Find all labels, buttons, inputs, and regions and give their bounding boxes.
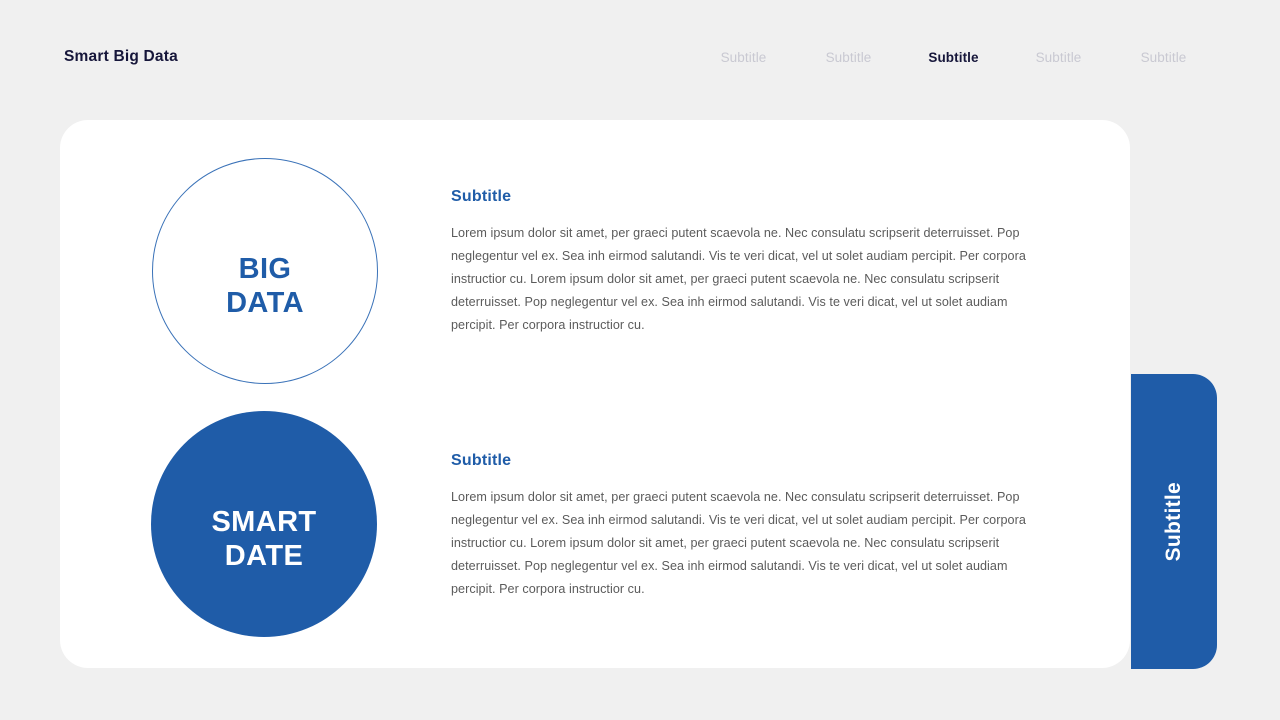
smart-date-circle-line2: DATE [225, 539, 303, 573]
big-data-circle-line1: BIG [239, 252, 292, 286]
big-data-circle[interactable]: BIG DATA [152, 158, 378, 384]
section-1-heading: Subtitle [451, 188, 1047, 206]
section-2-body: Lorem ipsum dolor sit amet, per graeci p… [451, 486, 1047, 601]
content-card: BIG DATA SMART DATE Subtitle Lorem ipsum… [60, 120, 1130, 668]
header-bar: Smart Big Data Subtitle Subtitle Subtitl… [0, 0, 1280, 104]
top-navigation: Subtitle Subtitle Subtitle Subtitle Subt… [691, 50, 1216, 65]
nav-item-4[interactable]: Subtitle [1006, 50, 1111, 65]
nav-item-1[interactable]: Subtitle [691, 50, 796, 65]
nav-item-3-active[interactable]: Subtitle [901, 50, 1006, 65]
smart-date-circle-line1: SMART [211, 505, 316, 539]
section-2-heading: Subtitle [451, 452, 1047, 470]
smart-date-circle[interactable]: SMART DATE [151, 411, 377, 637]
side-tab[interactable]: Subtitle [1131, 374, 1217, 669]
section-2-text-block: Subtitle Lorem ipsum dolor sit amet, per… [451, 452, 1047, 601]
nav-item-2[interactable]: Subtitle [796, 50, 901, 65]
slide-canvas: Smart Big Data Subtitle Subtitle Subtitl… [0, 0, 1280, 720]
brand-title: Smart Big Data [64, 48, 178, 66]
nav-item-5[interactable]: Subtitle [1111, 50, 1216, 65]
section-1-body: Lorem ipsum dolor sit amet, per graeci p… [451, 222, 1047, 337]
big-data-circle-line2: DATA [226, 286, 304, 320]
section-1-text-block: Subtitle Lorem ipsum dolor sit amet, per… [451, 188, 1047, 337]
side-tab-label: Subtitle [1162, 482, 1186, 561]
